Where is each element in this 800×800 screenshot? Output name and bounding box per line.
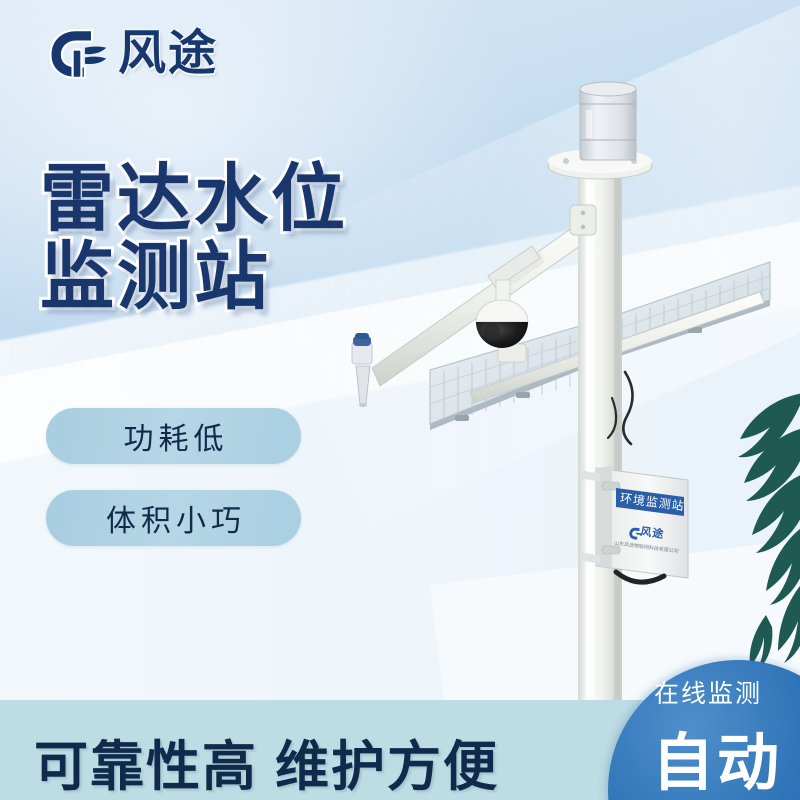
feature-list: 功耗低 体积小巧: [46, 408, 301, 572]
plant-leaf-decoration: [700, 375, 800, 675]
badge-title: 自动: [652, 712, 782, 800]
title-line-2: 监测站: [40, 238, 348, 316]
feature-label: 体积小巧: [101, 496, 246, 540]
brand-logo: 风途: [46, 26, 218, 82]
power-cable: [623, 372, 632, 444]
feature-pill-low-power: 功耗低: [46, 408, 301, 464]
feature-label: 功耗低: [119, 414, 229, 458]
control-enclosure: [580, 466, 688, 582]
bottom-banner-text: 可靠性高 维护方便: [34, 722, 499, 800]
page-title: 雷达水位 监测站: [40, 160, 348, 317]
title-line-1: 雷达水位: [40, 160, 348, 238]
badge-subtitle: 在线监测: [654, 674, 762, 710]
arm-collar: [570, 205, 596, 235]
brand-name: 风途: [118, 30, 218, 78]
radar-level-sensor: [352, 333, 372, 407]
feature-pill-compact: 体积小巧: [46, 490, 301, 546]
promo-poster: 环境监测站 风途 山东风途物联网科技有限公司 风途: [0, 0, 800, 800]
ft-monogram-icon: [46, 26, 108, 82]
rain-gauge-sensor: [580, 82, 636, 160]
